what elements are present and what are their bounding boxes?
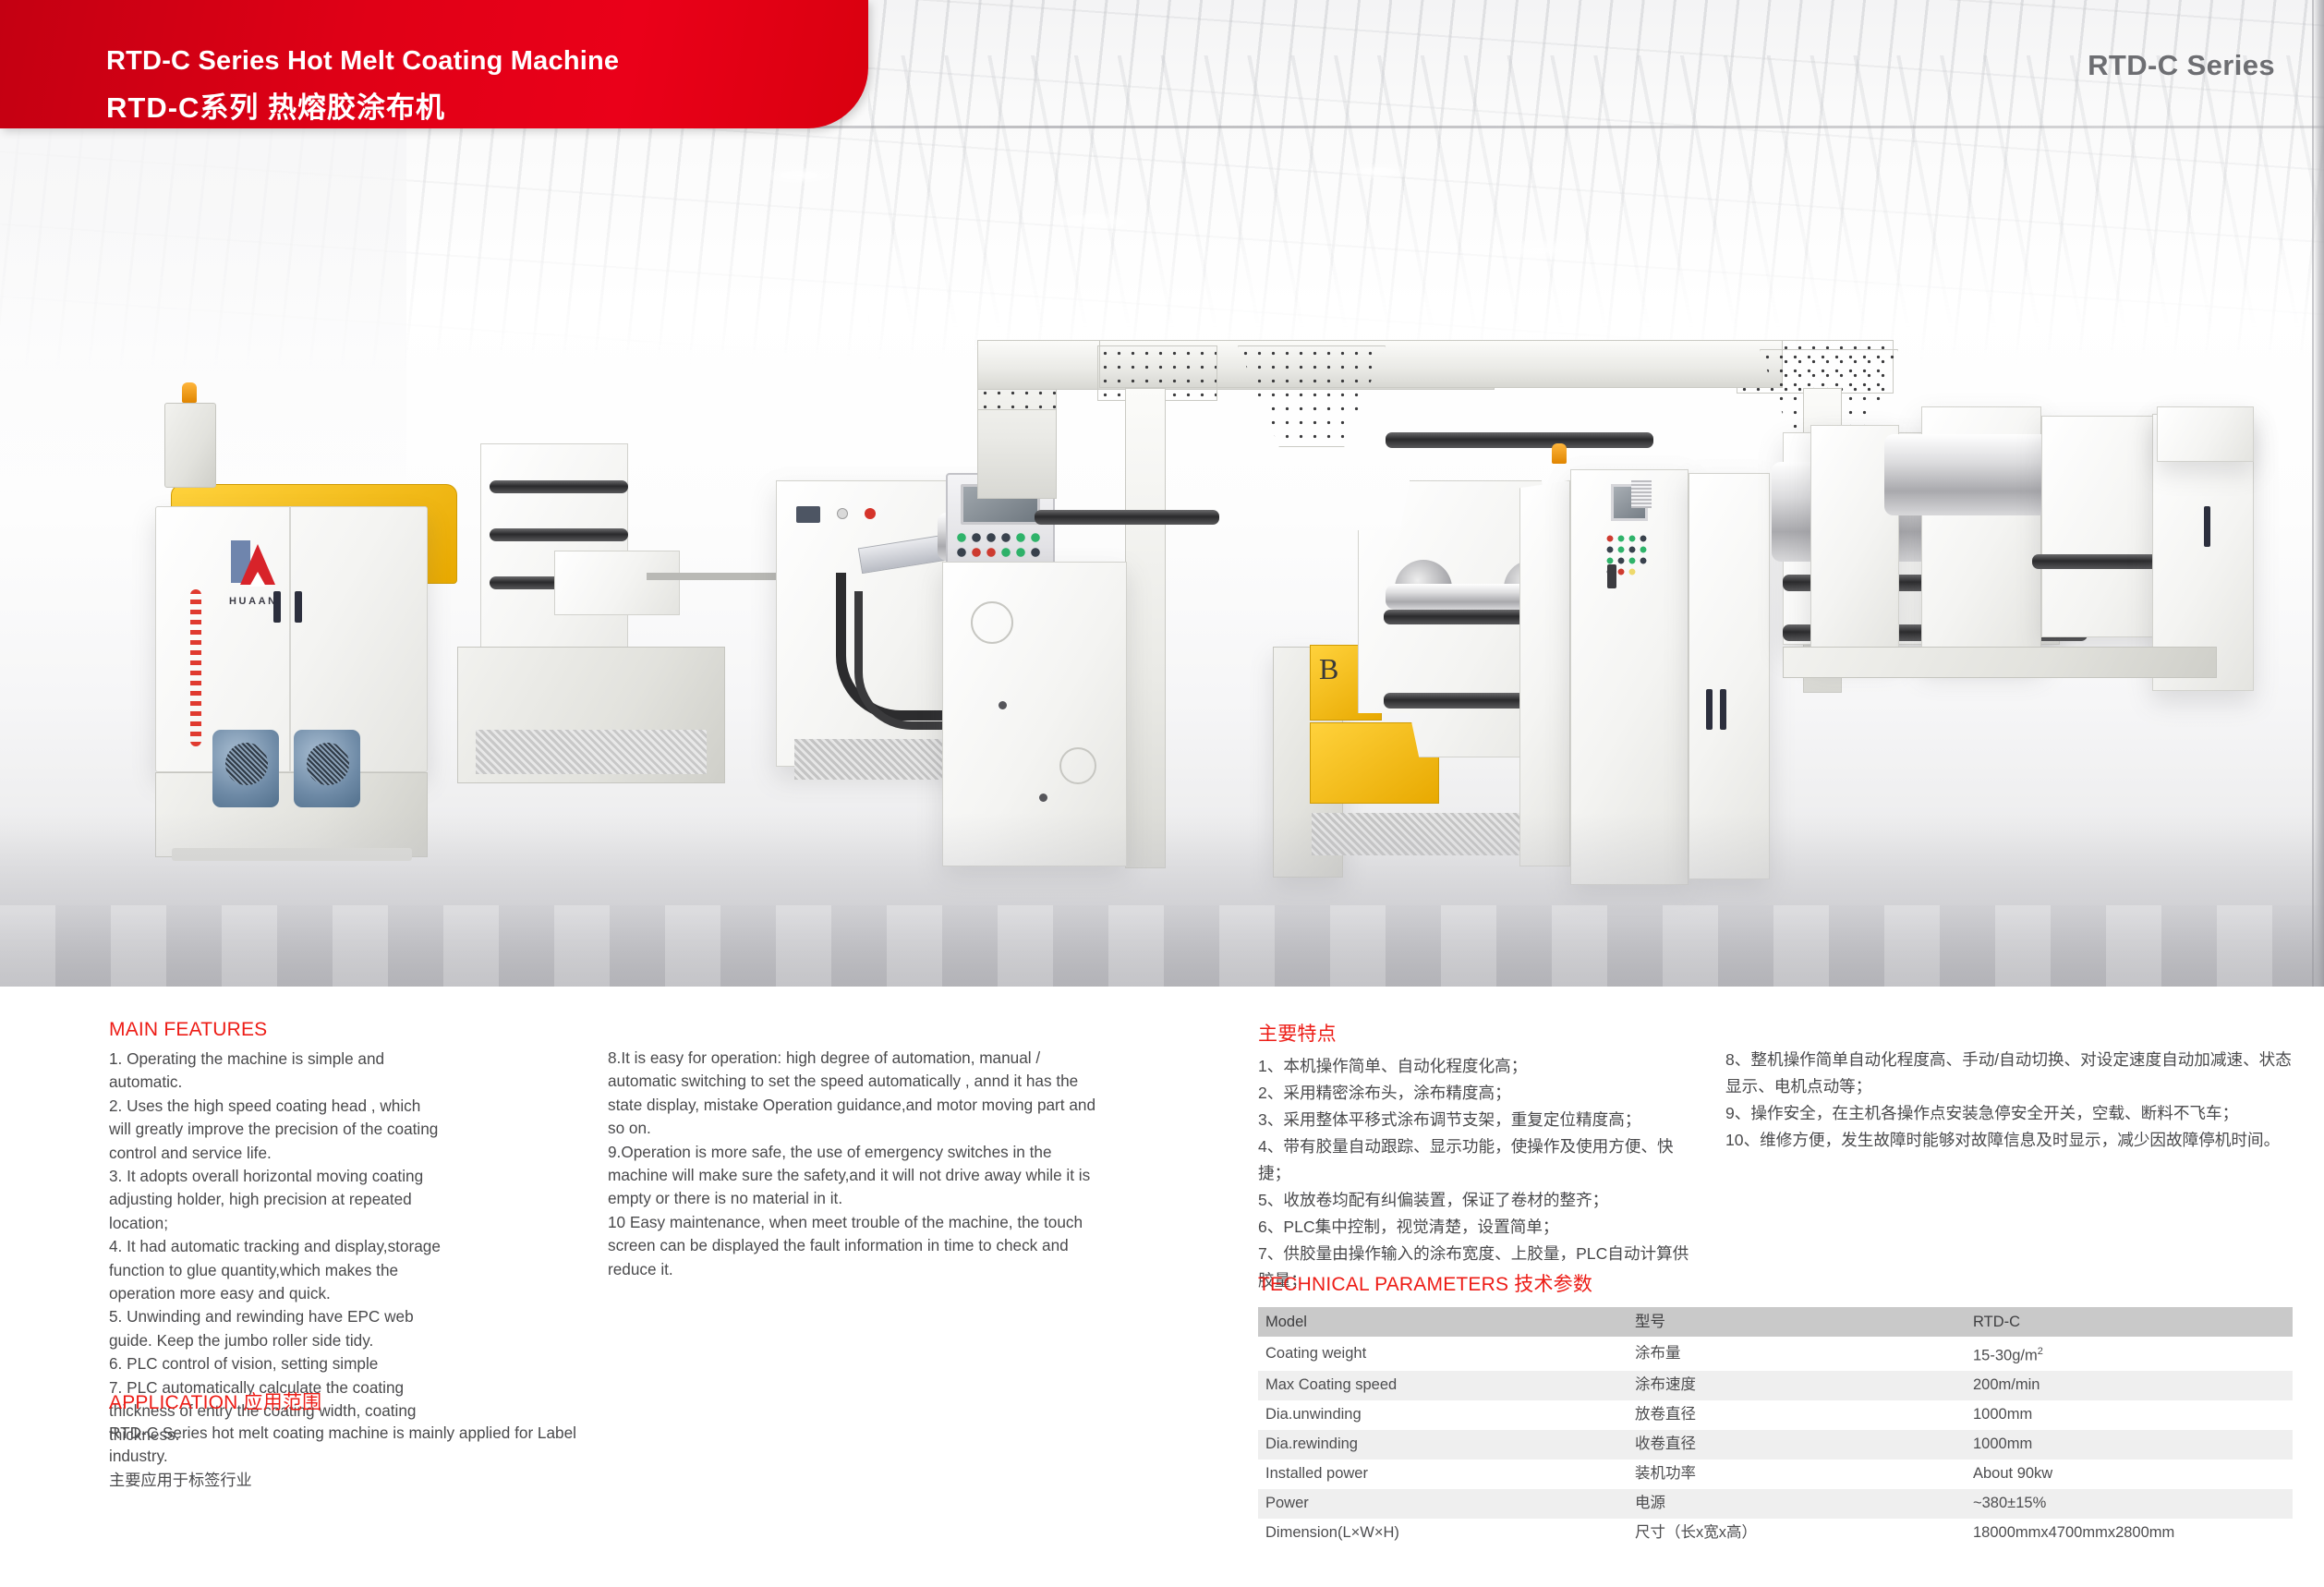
main-features-item: 4. It had automatic tracking and display… (109, 1235, 442, 1305)
series-tag: RTD-C Series (2088, 49, 2275, 82)
main-features-cn-item: 9、操作安全，在主机各操作点安装急停安全开关，空载、断料不飞车； (1725, 1100, 2294, 1127)
table-row: Dia.unwinding放卷直径1000mm (1258, 1400, 2293, 1430)
main-features-item: 3. It adopts overall horizontal moving c… (109, 1165, 442, 1235)
vent-grille (1631, 480, 1652, 508)
main-features-cn-item: 1、本机操作简单、自动化程度化高； (1258, 1053, 1692, 1080)
main-features-cn-item: 3、采用整体平移式涂布调节支架，重复定位精度高； (1258, 1107, 1692, 1133)
application-line: RTD-C Series hot melt coating machine is… (109, 1422, 589, 1469)
ceiling-lamps (647, 139, 1663, 323)
spec-name-en: Model (1258, 1307, 1628, 1337)
application-title: APPLICATION 应用范围 (109, 1387, 589, 1415)
end-cabinet-top (2157, 406, 2254, 462)
main-features-item: 5. Unwinding and rewinding have EPC web … (109, 1305, 442, 1352)
banner-title-en: RTD-C Series Hot Melt Coating Machine (106, 46, 619, 77)
drive-motor-2 (294, 730, 360, 807)
cabinet-switch[interactable] (796, 506, 820, 523)
main-features-cn-title: 主要特点 (1258, 1019, 1692, 1047)
spec-name-cn: 放卷直径 (1628, 1400, 1966, 1430)
spec-value: RTD-C (1966, 1307, 2293, 1337)
main-features-section: MAIN FEATURES 1. Operating the machine i… (109, 1019, 442, 1447)
roller-right-top-1 (1386, 432, 1653, 448)
spec-name-en: Coating weight (1258, 1337, 1628, 1371)
main-features-cn-item: 4、带有胶量自动跟踪、显示功能，使操作及使用方便、快捷； (1258, 1133, 1692, 1187)
spec-name-en: Power (1258, 1489, 1628, 1519)
main-features-cn-section: 主要特点 1、本机操作简单、自动化程度化高； 2、采用精密涂布头，涂布精度高； … (1258, 1019, 1692, 1294)
main-features-continued: 8.It is easy for operation: high degree … (608, 1047, 1102, 1281)
right-cabinet-handle-1 (1706, 689, 1713, 730)
spec-value: About 90kw (1966, 1460, 2293, 1489)
application-section: APPLICATION 应用范围 RTD-C Series hot melt c… (109, 1387, 589, 1492)
spec-name-cn: 收卷直径 (1628, 1430, 1966, 1460)
roller-top-1 (490, 480, 628, 493)
end-cabinet-handle (2204, 506, 2210, 547)
application-line: 主要应用于标签行业 (109, 1469, 589, 1492)
table-row: Dimension(L×W×H)尺寸（长x宽x高）18000mmx4700mmx… (1258, 1519, 2293, 1548)
main-features-cn-item: 2、采用精密涂布头，涂布精度高； (1258, 1080, 1692, 1107)
spec-name-en: Dia.rewinding (1258, 1430, 1628, 1460)
table-row: Power电源~380±15% (1258, 1489, 2293, 1519)
spec-name-en: Max Coating speed (1258, 1371, 1628, 1400)
main-features-item: 10 Easy maintenance, when meet trouble o… (608, 1211, 1102, 1281)
spec-name-cn: 涂布量 (1628, 1337, 1966, 1371)
banner-title-cn: RTD-C系列 热熔胶涂布机 (106, 84, 445, 126)
coiled-cable (190, 589, 201, 746)
gantry-column-center (1125, 388, 1166, 868)
spec-value: 200m/min (1966, 1371, 2293, 1400)
main-features-cn-item: 5、收放卷均配有纠偏装置，保证了卷材的整齐； (1258, 1187, 1692, 1214)
spec-name-en: Installed power (1258, 1460, 1628, 1489)
table-row: Model型号RTD-C (1258, 1307, 2293, 1337)
huaan-logo (231, 540, 292, 592)
guide-block-left (554, 551, 680, 615)
gauge-indicator (837, 508, 848, 519)
spec-name-en: Dia.unwinding (1258, 1400, 1628, 1430)
huaan-logo-text: HUAAN (229, 596, 278, 607)
right-operator-column (1519, 480, 1570, 866)
main-features-item: 8.It is easy for operation: high degree … (608, 1047, 1102, 1141)
main-features-cn-continued: 8、整机操作简单自动化程度高、手动/自动切换、对设定速度自动加减速、状态显示、电… (1725, 1047, 2294, 1154)
rewound-roll (1884, 434, 2051, 515)
spec-name-cn: 型号 (1628, 1307, 1966, 1337)
spec-value: 1000mm (1966, 1400, 2293, 1430)
table-row: Dia.rewinding收卷直径1000mm (1258, 1430, 2293, 1460)
brochure-page: HUAAN (0, 0, 2324, 1587)
floor-reflection-band (0, 905, 2324, 987)
spec-name-cn: 装机功率 (1628, 1460, 1966, 1489)
main-features-cn-item: 8、整机操作简单自动化程度高、手动/自动切换、对设定速度自动加减速、状态显示、电… (1725, 1047, 2294, 1100)
main-features-title: MAIN FEATURES (109, 1019, 442, 1041)
cabinet-handle-1 (273, 591, 281, 623)
right-cabinet-socket (1607, 564, 1616, 588)
warning-beacon-left (182, 382, 197, 403)
spec-name-cn: 涂布速度 (1628, 1371, 1966, 1400)
rewinder-base (1783, 647, 2217, 678)
spec-name-cn: 尺寸（长x宽x高） (1628, 1519, 1966, 1548)
right-cabinet-handle-2 (1720, 689, 1726, 730)
main-features-item: 2. Uses the high speed coating head , wh… (109, 1095, 442, 1165)
table-row: Coating weight涂布量15-30g/m2 (1258, 1337, 2293, 1371)
technical-parameters-table: Model型号RTD-CCoating weight涂布量15-30g/m2Ma… (1258, 1307, 2293, 1548)
table-row: Max Coating speed涂布速度200m/min (1258, 1371, 2293, 1400)
main-features-cn-item: 10、维修方便，发生故障时能够对故障信息及时显示，减少因故障停机时间。 (1725, 1127, 2294, 1154)
technical-parameters-section: TECHNICAL PARAMETERS 技术参数 Model型号RTD-CCo… (1258, 1269, 2293, 1548)
main-features-cn-item: 6、PLC集中控制，视觉清楚，设置简单； (1258, 1214, 1692, 1241)
technical-parameters-title: TECHNICAL PARAMETERS 技术参数 (1258, 1269, 2293, 1297)
table-row: Installed power装机功率About 90kw (1258, 1460, 2293, 1489)
tread-plate-left (476, 730, 707, 774)
spec-name-cn: 电源 (1628, 1489, 1966, 1519)
spec-name-en: Dimension(L×W×H) (1258, 1519, 1628, 1548)
spec-value: 18000mmx4700mmx2800mm (1966, 1519, 2293, 1548)
page-edge-line (2312, 0, 2314, 1155)
spec-value: ~380±15% (1966, 1489, 2293, 1519)
warning-beacon-right (1552, 443, 1567, 464)
emergency-indicator (865, 508, 876, 519)
gantry-roller (1035, 510, 1219, 525)
main-features-item: 9.Operation is more safe, the use of eme… (608, 1141, 1102, 1211)
cabinet-handle-2 (295, 591, 302, 623)
gantry-gusset-2 (1238, 345, 1386, 447)
product-photo: HUAAN (0, 0, 2324, 987)
drive-motor-1 (212, 730, 279, 807)
main-features-item: 6. PLC control of vision, setting simple (109, 1352, 442, 1375)
beacon-post-left (164, 403, 216, 488)
spec-value: 15-30g/m2 (1966, 1337, 2293, 1371)
spec-value: 1000mm (1966, 1430, 2293, 1460)
unit-label-b: B (1319, 652, 1338, 686)
main-features-item: 1. Operating the machine is simple and a… (109, 1048, 442, 1095)
page-fold-shadow (2313, 0, 2324, 1155)
header-banner: RTD-C Series Hot Melt Coating Machine RT… (0, 0, 868, 128)
roller-top-2 (490, 528, 628, 541)
